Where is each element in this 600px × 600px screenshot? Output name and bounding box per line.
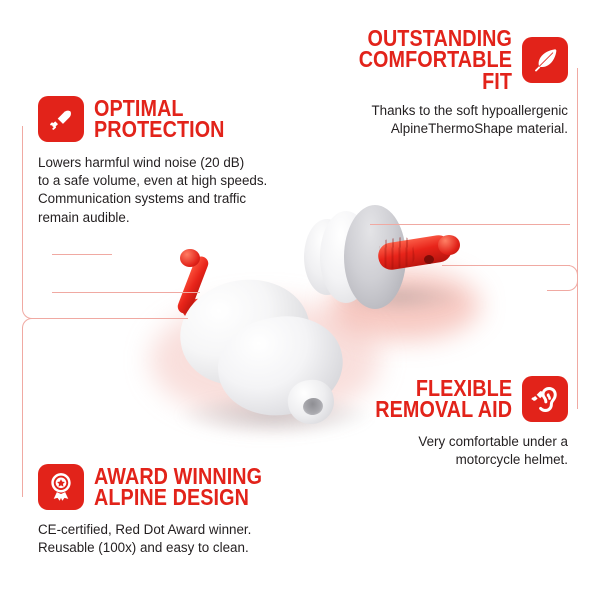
- earplug-protection-icon: [38, 96, 84, 142]
- back-earplug-red-stem: [376, 233, 453, 271]
- front-earplug: [160, 255, 360, 425]
- front-earplug-sound-channel: [302, 397, 324, 417]
- callout-header-optimal-protection: OPTIMAL PROTECTION: [38, 96, 288, 142]
- callout-body-optimal-protection: Lowers harmful wind noise (20 dB) to a s…: [38, 154, 288, 227]
- front-earplug-stem-knob: [180, 249, 200, 267]
- award-rosette-icon: [38, 464, 84, 510]
- leader-line-optimal-upper: [52, 254, 112, 255]
- callout-award-winning-alpine-design: AWARD WINNING ALPINE DESIGN CE-certified…: [38, 464, 308, 557]
- front-earplug-red-stem: [176, 254, 211, 315]
- callout-header-outstanding-comfortable-fit: OUTSTANDING COMFORTABLE FIT: [308, 28, 568, 92]
- back-earplug-sound-port: [424, 255, 434, 264]
- callout-headline-outstanding-comfortable-fit: OUTSTANDING COMFORTABLE FIT: [337, 28, 512, 92]
- product-shadow-back: [335, 280, 465, 314]
- leader-line-removal: [442, 265, 570, 266]
- front-earplug-body: [173, 270, 318, 394]
- back-earplug-filter-disc: [344, 205, 406, 309]
- callout-body-outstanding-comfortable-fit: Thanks to the soft hypoallergenic Alpine…: [308, 102, 568, 138]
- back-earplug-flange-inner: [320, 211, 372, 303]
- ear-with-earplug-icon: [522, 376, 568, 422]
- callout-optimal-protection: OPTIMAL PROTECTION Lowers harmful wind n…: [38, 96, 288, 227]
- callout-header-award-winning-alpine-design: AWARD WINNING ALPINE DESIGN: [38, 464, 308, 510]
- leader-line-award: [52, 318, 188, 319]
- callout-body-flexible-removal-aid: Very comfortable under a motorcycle helm…: [338, 433, 568, 469]
- back-earplug: [300, 205, 480, 325]
- callout-flexible-removal-aid: FLEXIBLE REMOVAL AID Very comfortable un…: [338, 376, 568, 469]
- callout-headline-award-winning-alpine-design: AWARD WINNING ALPINE DESIGN: [94, 466, 262, 509]
- infographic-canvas: OPTIMAL PROTECTION Lowers harmful wind n…: [0, 0, 600, 600]
- back-earplug-stem-ribs: [378, 236, 416, 271]
- callout-headline-optimal-protection: OPTIMAL PROTECTION: [94, 98, 225, 141]
- front-earplug-stem-base: [181, 297, 213, 321]
- front-earplug-tip: [285, 377, 337, 428]
- product-glow-back: [330, 270, 480, 340]
- callout-outstanding-comfortable-fit: OUTSTANDING COMFORTABLE FIT Thanks to th…: [308, 28, 568, 139]
- feather-icon: [522, 37, 568, 83]
- front-earplug-flange: [211, 308, 350, 424]
- back-earplug-flange-outer: [304, 219, 350, 295]
- leader-line-comfort: [370, 224, 570, 225]
- leader-line-optimal-lower: [52, 292, 200, 293]
- callout-headline-flexible-removal-aid: FLEXIBLE REMOVAL AID: [375, 378, 512, 421]
- callout-body-award-winning-alpine-design: CE-certified, Red Dot Award winner. Reus…: [38, 521, 308, 557]
- back-earplug-stem-tip: [438, 235, 460, 255]
- callout-header-flexible-removal-aid: FLEXIBLE REMOVAL AID: [338, 376, 568, 422]
